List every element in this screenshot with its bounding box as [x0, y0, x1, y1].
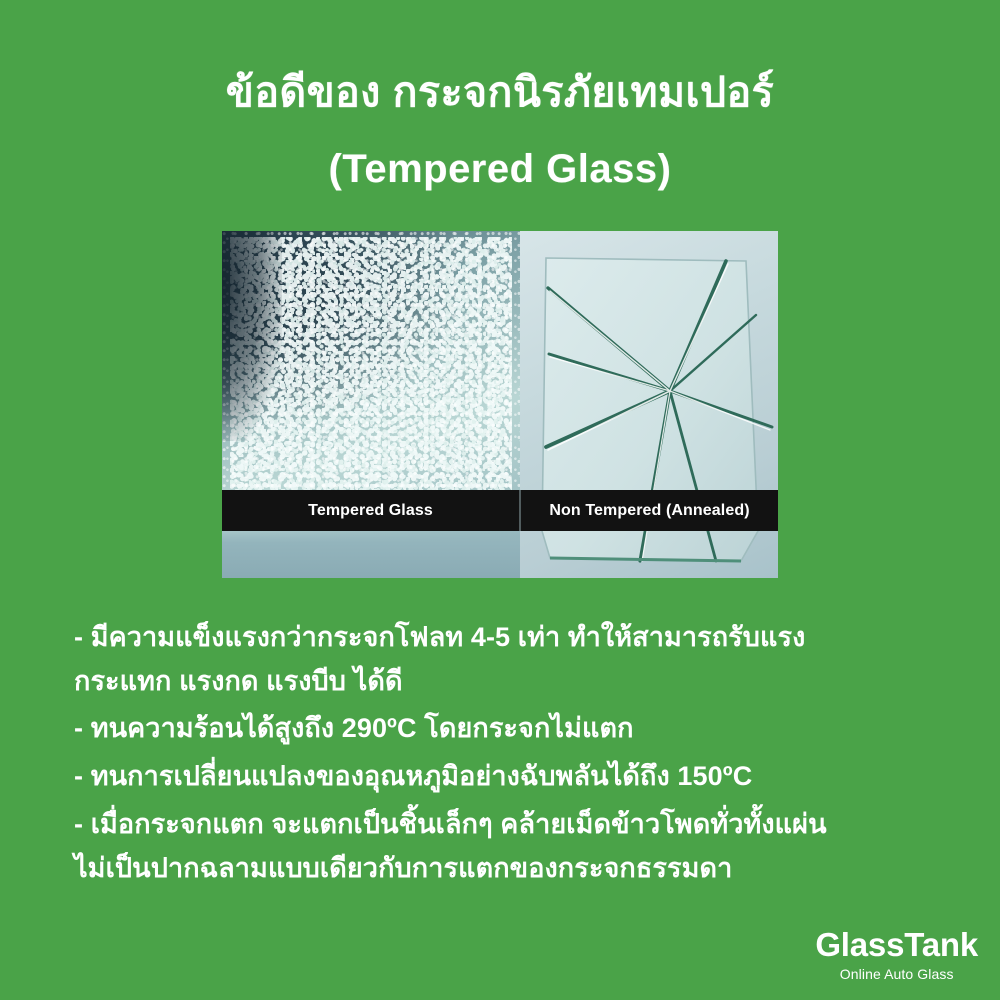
photo-corner-shadow	[222, 231, 282, 441]
benefit-item-3: - ทนการเปลี่ยนแปลงของอุณหภูมิอย่างฉับพลั…	[74, 755, 954, 799]
photo-caption-band: Tempered Glass Non Tempered (Annealed)	[222, 490, 778, 531]
title-line-english: (Tempered Glass)	[0, 149, 1000, 189]
brand-tagline: Online Auto Glass	[815, 966, 978, 982]
benefit-item-2: - ทนความร้อนได้สูงถึง 290ºC โดยกระจกไม่แ…	[74, 707, 954, 751]
page-title: ข้อดีของ กระจกนิรภัยเทมเปอร์ (Tempered G…	[0, 72, 1000, 189]
caption-tempered: Tempered Glass	[222, 490, 519, 531]
poster-canvas: ข้อดีของ กระจกนิรภัยเทมเปอร์ (Tempered G…	[0, 0, 1000, 1000]
brand-name: GlassTank	[815, 928, 978, 963]
photo-bottom-surface	[222, 524, 520, 578]
title-line-thai: ข้อดีของ กระจกนิรภัยเทมเปอร์	[0, 72, 1000, 113]
benefit-item-1: - มีความแข็งแรงกว่ากระจกโฟลท 4-5 เท่า ทำ…	[74, 616, 954, 703]
brand-logo: GlassTank Online Auto Glass	[815, 928, 978, 982]
benefit-item-4: - เมื่อกระจกแตก จะแตกเป็นชิ้นเล็กๆ คล้าย…	[74, 803, 954, 890]
comparison-photo: Tempered Glass Non Tempered (Annealed)	[222, 231, 778, 578]
caption-non-tempered: Non Tempered (Annealed)	[521, 490, 778, 531]
benefits-list: - มีความแข็งแรงกว่ากระจกโฟลท 4-5 เท่า ทำ…	[74, 616, 954, 894]
